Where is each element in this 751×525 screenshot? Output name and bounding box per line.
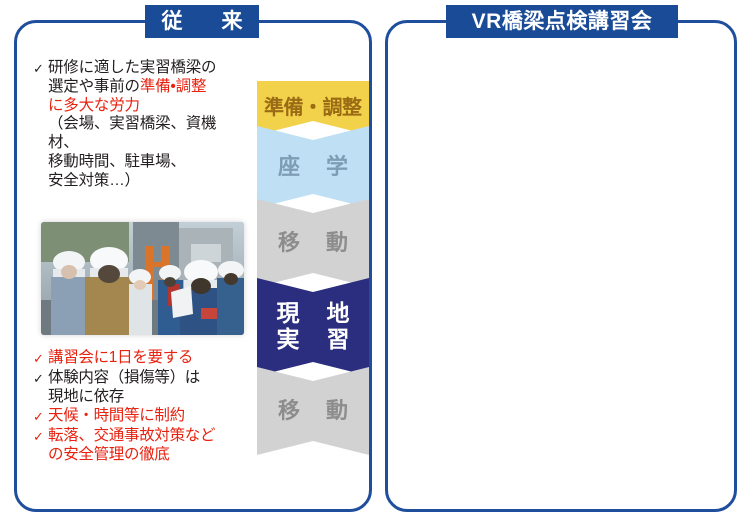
bullet-line: 体験内容（損傷等）は [48, 369, 251, 388]
text-segment: 講習会に1日を要する [48, 349, 193, 366]
traditional-top-bullets: ✓研修に適した実習橋梁の選定や事前の準備•調整に多大な労力（会場、実習橋梁、資機… [33, 59, 241, 190]
flow-step-line: 移 動 [276, 399, 350, 424]
bullet-text: 天候・時間等に制約 [48, 407, 251, 426]
bullet-line: 天候・時間等に制約 [48, 407, 251, 426]
bullet-item: ✓転落、交通事故対策などの安全管理の徹底 [33, 427, 251, 465]
traditional-process-flow: 準備・調整座 学移 動現 地実 習移 動 [257, 81, 369, 446]
bullet-line: 安全対策…） [48, 172, 241, 191]
text-segment: 選定や事前の [48, 78, 140, 95]
checkmark-icon: ✓ [33, 59, 48, 77]
flow-step-label: 準備・調整 [265, 97, 362, 119]
text-segment: の安全管理の徹底 [48, 446, 170, 463]
text-segment: 現地に依存 [48, 388, 124, 405]
flow-step-label: 現 地実 習 [275, 301, 352, 353]
text-segment: に多大な労力 [48, 97, 140, 114]
flow-step-3: 移 動 [257, 199, 369, 287]
text-segment: 安全対策…） [48, 172, 140, 189]
checkmark-icon: ✓ [33, 369, 48, 387]
flow-step-5: 移 動 [257, 367, 369, 455]
panel-traditional: 従 来 ✓研修に適した実習橋梁の選定や事前の準備•調整に多大な労力（会場、実習橋… [14, 20, 372, 512]
bullet-line: 研修に適した実習橋梁の [48, 59, 241, 78]
flow-step-line: 座 学 [276, 155, 350, 180]
bullet-line: 講習会に1日を要する [48, 349, 251, 368]
bullet-line: 現地に依存 [48, 388, 251, 407]
flow-step-line: 移 動 [276, 231, 350, 256]
text-segment: 転落、交通事故対策など [48, 427, 215, 444]
flow-step-line: 現 地 [275, 301, 352, 327]
text-segment: （会場、実習橋梁、資機材、 [48, 115, 216, 151]
bullet-item: ✓研修に適した実習橋梁の選定や事前の準備•調整に多大な労力（会場、実習橋梁、資機… [33, 59, 241, 190]
bullet-text: 講習会に1日を要する [48, 349, 251, 368]
bullet-line: に多大な労力 [48, 97, 241, 116]
bullet-line: 移動時間、駐車場、 [48, 153, 241, 172]
flow-step-label: 座 学 [276, 155, 350, 180]
flow-step-line: 実 習 [275, 327, 352, 353]
panel-traditional-title: 従 来 [145, 5, 259, 38]
bullet-item: ✓体験内容（損傷等）は現地に依存 [33, 369, 251, 407]
bullet-text: 体験内容（損傷等）は現地に依存 [48, 369, 251, 407]
slide-root: 従 来 ✓研修に適した実習橋梁の選定や事前の準備•調整に多大な労力（会場、実習橋… [0, 0, 751, 525]
checkmark-icon: ✓ [33, 407, 48, 425]
flow-step-2: 座 学 [257, 126, 369, 208]
flow-step-line: 準備・調整 [265, 97, 362, 119]
text-segment: 研修に適した実習橋梁の [48, 59, 216, 76]
checkmark-icon: ✓ [33, 349, 48, 367]
text-segment: 体験内容（損傷等）は [48, 369, 200, 386]
bullet-text: 転落、交通事故対策などの安全管理の徹底 [48, 427, 251, 465]
flow-step-4: 現 地実 習 [257, 278, 369, 376]
flow-step-label: 移 動 [276, 231, 350, 256]
panel-vr: VR橋梁点検講習会 ●準備は会場とモニターのみ（VR橋梁点検講習ツールは中国道路… [385, 20, 737, 512]
panel-vr-title: VR橋梁点検講習会 [446, 5, 678, 38]
site-training-photo-illustration [41, 222, 244, 335]
traditional-bottom-bullets: ✓講習会に1日を要する✓体験内容（損傷等）は現地に依存✓天候・時間等に制約✓転落… [33, 349, 251, 466]
bullet-line: の安全管理の徹底 [48, 446, 251, 465]
bullet-line: 転落、交通事故対策など [48, 427, 251, 446]
text-segment: 準備•調整 [140, 78, 206, 95]
bullet-item: ✓講習会に1日を要する [33, 349, 251, 368]
bullet-text: 研修に適した実習橋梁の選定や事前の準備•調整に多大な労力（会場、実習橋梁、資機材… [48, 59, 241, 190]
flow-step-1: 準備・調整 [257, 81, 369, 135]
traditional-site-photo [41, 222, 244, 335]
bullet-line: 選定や事前の準備•調整 [48, 78, 241, 97]
text-segment: 移動時間、駐車場、 [48, 153, 186, 170]
checkmark-icon: ✓ [33, 427, 48, 445]
bullet-line: （会場、実習橋梁、資機材、 [48, 115, 241, 153]
flow-step-label: 移 動 [276, 399, 350, 424]
text-segment: 天候・時間等に制約 [48, 407, 185, 424]
bullet-item: ✓天候・時間等に制約 [33, 407, 251, 426]
